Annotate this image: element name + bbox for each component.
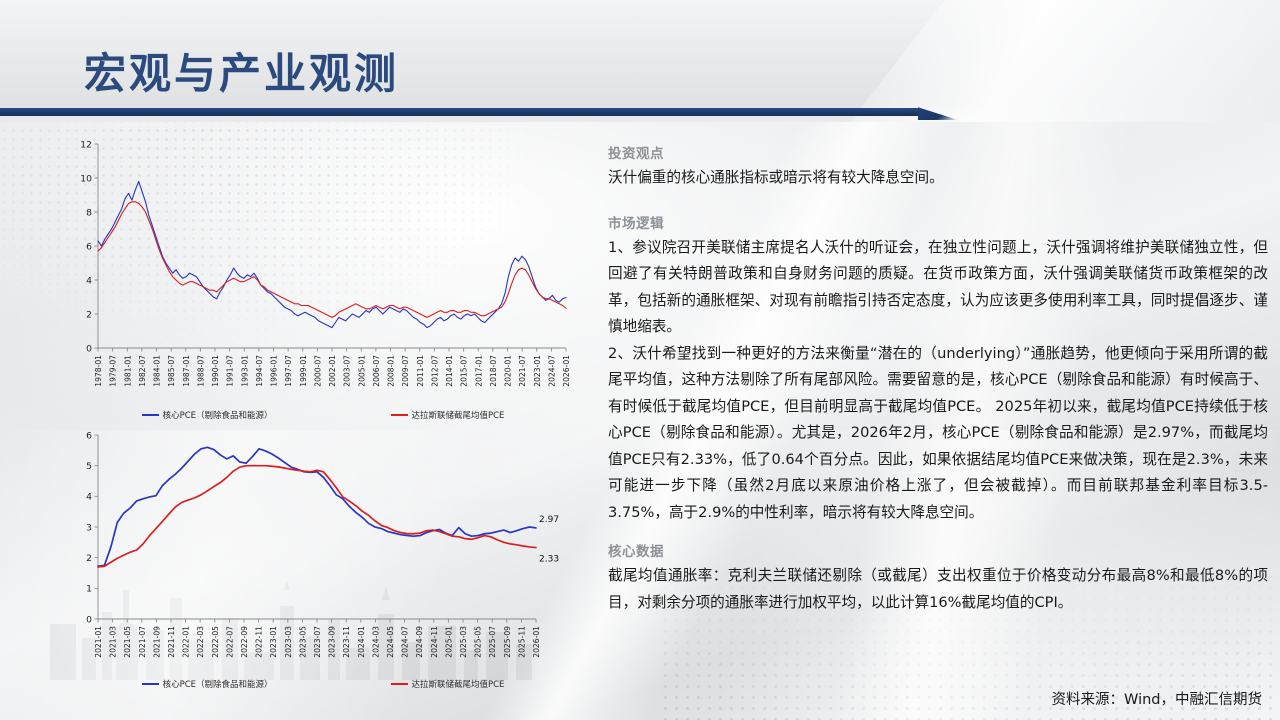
svg-text:2023-07: 2023-07 <box>313 626 322 658</box>
svg-text:2003-07: 2003-07 <box>343 355 352 387</box>
svg-text:2018-07: 2018-07 <box>489 355 498 387</box>
slide-root: 宏观与产业观测 0246810121978-011979-071981-0119… <box>0 0 1280 720</box>
svg-text:2024-11: 2024-11 <box>430 626 439 658</box>
svg-text:2022-11: 2022-11 <box>255 626 264 658</box>
svg-text:1985-07: 1985-07 <box>167 355 176 387</box>
legend-swatch-blue-icon-2 <box>142 683 159 685</box>
svg-text:0: 0 <box>86 614 92 625</box>
svg-text:10: 10 <box>80 173 92 184</box>
svg-text:1993-01: 1993-01 <box>240 355 249 387</box>
svg-text:2023-01: 2023-01 <box>533 355 542 387</box>
market-logic-paragraph-2: 2、沃什希望找到一种更好的方法来衡量“潜在的（underlying）”通胀趋势，… <box>608 341 1268 527</box>
legend-label-trimmed-pce-2: 达拉斯联储截尾均值PCE <box>412 678 505 690</box>
legend-item-trimmed-pce: 达拉斯联储截尾均值PCE <box>391 409 505 421</box>
svg-text:1996-01: 1996-01 <box>270 355 279 387</box>
svg-text:2006-07: 2006-07 <box>372 355 381 387</box>
svg-text:2024-03: 2024-03 <box>371 626 380 658</box>
svg-text:2025-07: 2025-07 <box>488 626 497 658</box>
svg-text:1988-07: 1988-07 <box>196 355 205 387</box>
legend-label-core-pce: 核心PCE（剔除食品和能源） <box>163 409 273 421</box>
spacer <box>608 192 1268 212</box>
svg-text:3: 3 <box>86 522 92 533</box>
svg-text:2022-09: 2022-09 <box>240 626 249 658</box>
chart-long-history: 0246810121978-011979-071981-011982-07198… <box>58 136 588 421</box>
svg-text:2024-01: 2024-01 <box>357 626 366 658</box>
svg-text:1991-07: 1991-07 <box>226 355 235 387</box>
source-note: 资料来源：Wind，中融汇信期货 <box>1052 688 1262 709</box>
svg-text:2021-09: 2021-09 <box>152 626 161 658</box>
svg-text:1: 1 <box>86 584 92 595</box>
svg-text:2024-07: 2024-07 <box>401 626 410 658</box>
chart-recent-detail: 01234562021-012021-032021-052021-072021-… <box>58 427 588 690</box>
svg-text:2011-01: 2011-01 <box>416 355 425 387</box>
chart-recent-detail-legend: 核心PCE（剔除食品和能源） 达拉斯联储截尾均值PCE <box>58 678 588 690</box>
svg-text:8: 8 <box>86 207 92 218</box>
svg-text:2025-09: 2025-09 <box>503 626 512 658</box>
header-blue-rule <box>0 108 920 116</box>
svg-text:2021-07: 2021-07 <box>138 626 147 658</box>
svg-text:1981-01: 1981-01 <box>123 355 132 387</box>
legend-item-core-pce-2: 核心PCE（剔除食品和能源） <box>142 678 273 690</box>
chart-long-history-legend: 核心PCE（剔除食品和能源） 达拉斯联储截尾均值PCE <box>58 409 588 421</box>
svg-text:2021-01: 2021-01 <box>94 626 103 658</box>
investment-view-body: 沃什偏重的核心通胀指标或暗示将有较大降息空间。 <box>608 165 1268 192</box>
svg-text:12: 12 <box>80 139 92 150</box>
svg-text:1994-07: 1994-07 <box>255 355 264 387</box>
svg-text:2: 2 <box>86 553 92 564</box>
svg-text:4: 4 <box>86 275 92 286</box>
legend-swatch-blue-icon <box>142 414 159 416</box>
svg-text:1999-01: 1999-01 <box>299 355 308 387</box>
charts-column: 0246810121978-011979-071981-011982-07198… <box>58 136 588 702</box>
svg-text:2025-01: 2025-01 <box>444 626 453 658</box>
svg-text:2026-01: 2026-01 <box>562 355 571 387</box>
legend-item-core-pce: 核心PCE（剔除食品和能源） <box>142 409 273 421</box>
legend-swatch-red-icon-2 <box>391 683 408 685</box>
svg-text:1987-01: 1987-01 <box>182 355 191 387</box>
svg-text:2020-01: 2020-01 <box>504 355 513 387</box>
market-logic-paragraph-1: 1、参议院召开美联储主席提名人沃什的听证会，在独立性问题上，沃什强调将维护美联储… <box>608 235 1268 341</box>
svg-text:2026-01: 2026-01 <box>532 626 541 658</box>
svg-text:2021-11: 2021-11 <box>167 626 176 658</box>
svg-text:2023-11: 2023-11 <box>342 626 351 658</box>
svg-text:1990-01: 1990-01 <box>211 355 220 387</box>
svg-text:2: 2 <box>86 309 92 320</box>
section-heading-market-logic: 市场逻辑 <box>608 212 1268 232</box>
svg-text:2022-03: 2022-03 <box>196 626 205 658</box>
svg-text:0: 0 <box>86 343 92 354</box>
spacer-2 <box>608 526 1268 540</box>
svg-text:1979-07: 1979-07 <box>109 355 118 387</box>
svg-text:2022-05: 2022-05 <box>211 626 220 658</box>
svg-text:2009-07: 2009-07 <box>401 355 410 387</box>
svg-text:2022-07: 2022-07 <box>225 626 234 658</box>
svg-text:2021-03: 2021-03 <box>109 626 118 658</box>
commentary-column: 投资观点 沃什偏重的核心通胀指标或暗示将有较大降息空间。 市场逻辑 1、参议院召… <box>608 142 1268 662</box>
section-heading-core-data: 核心数据 <box>608 540 1268 560</box>
chart-recent-detail-svg: 01234562021-012021-032021-052021-072021-… <box>58 427 588 677</box>
svg-text:2024-07: 2024-07 <box>547 355 556 387</box>
svg-text:2023-09: 2023-09 <box>328 626 337 658</box>
svg-text:2023-03: 2023-03 <box>284 626 293 658</box>
svg-text:2025-11: 2025-11 <box>517 626 526 658</box>
svg-text:2024-05: 2024-05 <box>386 626 395 658</box>
page-title: 宏观与产业观测 <box>84 40 399 101</box>
svg-text:2021-07: 2021-07 <box>518 355 527 387</box>
legend-label-core-pce-2: 核心PCE（剔除食品和能源） <box>163 678 273 690</box>
svg-text:2.33: 2.33 <box>539 555 559 565</box>
legend-swatch-red-icon <box>391 414 408 416</box>
svg-text:2008-01: 2008-01 <box>387 355 396 387</box>
svg-text:6: 6 <box>86 241 92 252</box>
svg-text:2025-05: 2025-05 <box>474 626 483 658</box>
svg-text:2023-05: 2023-05 <box>298 626 307 658</box>
svg-text:2015-07: 2015-07 <box>460 355 469 387</box>
svg-text:1982-07: 1982-07 <box>138 355 147 387</box>
svg-text:6: 6 <box>86 430 92 441</box>
legend-label-trimmed-pce: 达拉斯联储截尾均值PCE <box>412 409 505 421</box>
core-data-body: 截尾均值通胀率：克利夫兰联储还剔除（或截尾）支出权重位于价格变动分布最高8%和最… <box>608 563 1268 616</box>
svg-text:2021-05: 2021-05 <box>123 626 132 658</box>
svg-text:2.97: 2.97 <box>539 515 559 525</box>
svg-text:1997-07: 1997-07 <box>284 355 293 387</box>
svg-text:2025-03: 2025-03 <box>459 626 468 658</box>
svg-text:1978-01: 1978-01 <box>94 355 103 387</box>
svg-text:2023-01: 2023-01 <box>269 626 278 658</box>
svg-text:2017-01: 2017-01 <box>474 355 483 387</box>
slide-header: 宏观与产业观测 <box>0 0 1280 122</box>
svg-text:2022-01: 2022-01 <box>182 626 191 658</box>
svg-text:5: 5 <box>86 461 92 472</box>
svg-text:2000-07: 2000-07 <box>313 355 322 387</box>
svg-text:2024-09: 2024-09 <box>415 626 424 658</box>
svg-text:2012-07: 2012-07 <box>430 355 439 387</box>
svg-text:2014-01: 2014-01 <box>445 355 454 387</box>
section-heading-investment-view: 投资观点 <box>608 142 1268 162</box>
chart-long-history-svg: 0246810121978-011979-071981-011982-07198… <box>58 136 588 408</box>
svg-text:1984-01: 1984-01 <box>153 355 162 387</box>
svg-text:4: 4 <box>86 492 92 503</box>
svg-text:2002-01: 2002-01 <box>328 355 337 387</box>
svg-text:2005-01: 2005-01 <box>357 355 366 387</box>
legend-item-trimmed-pce-2: 达拉斯联储截尾均值PCE <box>391 678 505 690</box>
